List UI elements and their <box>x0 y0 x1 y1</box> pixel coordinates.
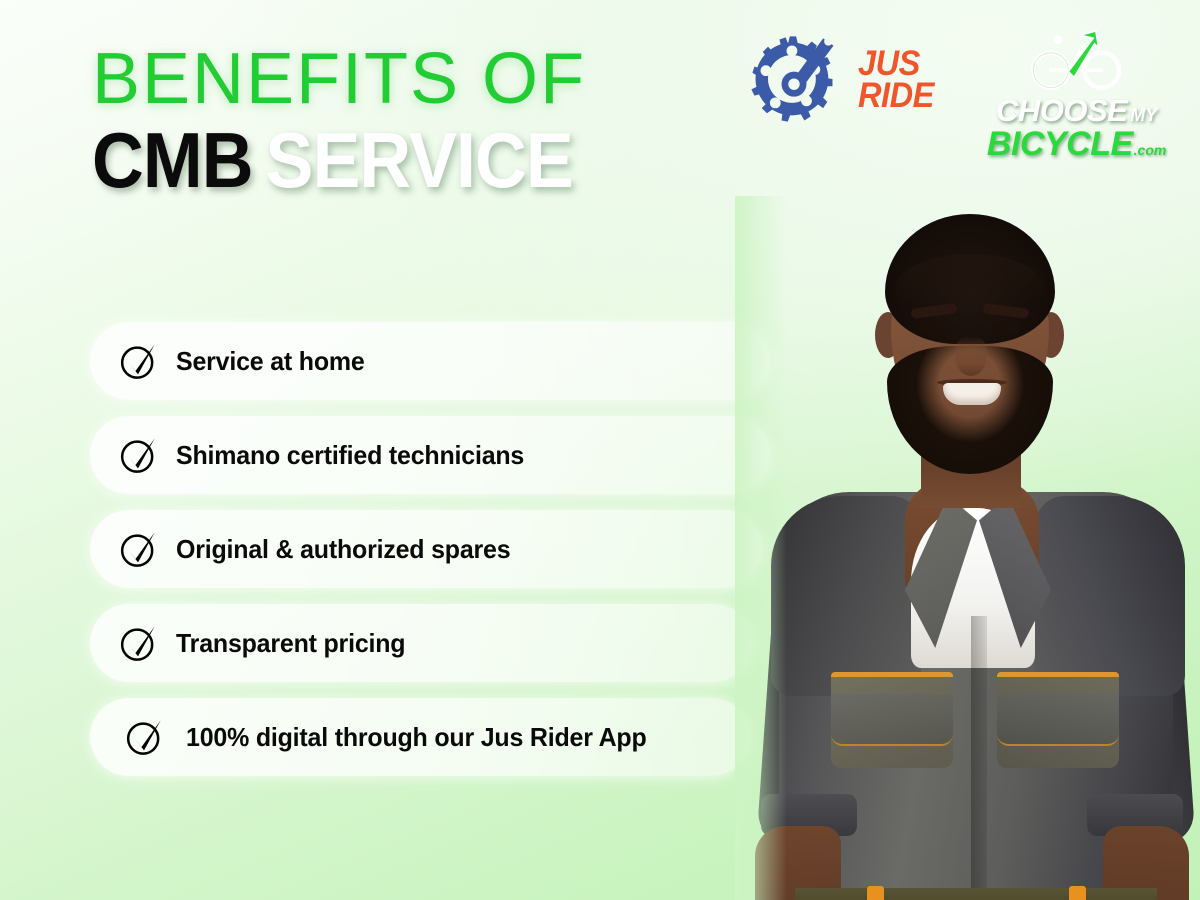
benefit-item[interactable]: Shimano certified technicians <box>90 416 770 494</box>
cmb-word-choose: CHOOSE <box>996 93 1127 129</box>
bicycle-arrow-icon <box>1025 28 1129 92</box>
cmb-word-bicycle: BICYCLE <box>987 125 1133 164</box>
headline-line-benefits-of: BENEFITS OF <box>92 44 692 115</box>
benefit-label: Original & authorized spares <box>176 534 510 565</box>
benefit-label: Service at home <box>176 346 365 377</box>
jusride-wordmark: JUS RIDE <box>858 48 934 112</box>
logo-group: JUS RIDE CHOOSE MY BICYCLE .com <box>742 28 1172 164</box>
right-belt-loop <box>1069 886 1086 900</box>
left-shoulder <box>771 496 921 696</box>
tool-belt <box>795 888 1157 900</box>
cmb-word-dotcom: .com <box>1134 142 1167 158</box>
technician-photo <box>735 196 1200 900</box>
check-circle-icon <box>118 623 158 663</box>
benefit-label: Shimano certified technicians <box>176 440 524 471</box>
jusride-logo[interactable]: JUS RIDE <box>742 28 940 132</box>
right-pocket-flap <box>997 694 1119 746</box>
check-circle-icon <box>124 717 164 757</box>
smile-teeth <box>943 383 1001 405</box>
check-circle-icon <box>118 435 158 475</box>
cmb-word-my: MY <box>1130 105 1157 126</box>
left-eye <box>919 323 949 335</box>
jusride-word-ride: RIDE <box>858 80 934 112</box>
benefit-item[interactable]: Service at home <box>90 322 770 400</box>
left-pocket-flap <box>831 694 953 746</box>
check-circle-icon <box>118 529 158 569</box>
right-shoulder <box>1035 496 1185 696</box>
headline-block: BENEFITS OF CMBSERVICE <box>92 44 692 199</box>
choosemybicycle-logo[interactable]: CHOOSE MY BICYCLE .com <box>982 28 1172 164</box>
benefit-item[interactable]: Original & authorized spares <box>90 510 762 588</box>
headline-word-service: SERVICE <box>266 116 573 204</box>
right-eye <box>991 323 1021 335</box>
chainring-crank-icon <box>742 28 846 132</box>
choosemybicycle-line1: CHOOSE MY <box>996 93 1157 129</box>
headline-word-cmb: CMB <box>92 116 253 204</box>
check-circle-icon <box>118 341 158 381</box>
nose <box>955 336 987 376</box>
choosemybicycle-line2: BICYCLE .com <box>987 125 1166 164</box>
headline-line-cmb-service: CMBSERVICE <box>92 121 644 199</box>
left-belt-loop <box>867 886 884 900</box>
benefit-item[interactable]: 100% digital through our Jus Rider App <box>90 698 750 776</box>
button-placket <box>971 616 987 900</box>
benefits-list: Service at home Shimano certified techni… <box>90 322 770 792</box>
benefit-item[interactable]: Transparent pricing <box>90 604 752 682</box>
benefit-label: 100% digital through our Jus Rider App <box>186 722 647 753</box>
benefit-label: Transparent pricing <box>176 628 405 659</box>
poster-canvas: BENEFITS OF CMBSERVICE <box>0 0 1200 900</box>
